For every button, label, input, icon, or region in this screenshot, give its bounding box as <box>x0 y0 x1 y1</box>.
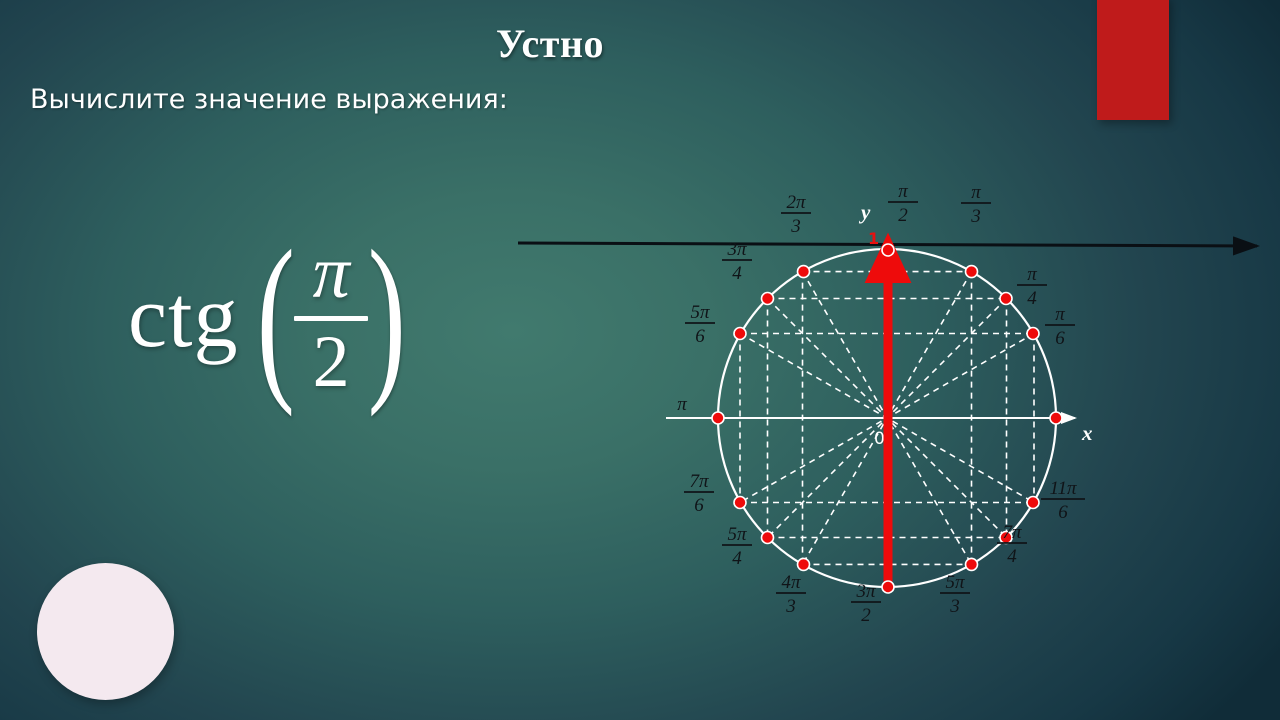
angle-label-numerator: 11π <box>1049 478 1077 499</box>
angle-label-numerator: 3π <box>726 239 747 260</box>
angle-label-denominator: 6 <box>1055 328 1065 349</box>
angle-label-numerator: π <box>1055 304 1065 325</box>
angle-label-numerator: 7π <box>689 471 709 492</box>
angle-label-five-pi-over-6: 5π6 <box>685 302 715 347</box>
angle-label-denominator: 4 <box>732 548 742 569</box>
angle-label-denominator: 4 <box>1007 546 1017 567</box>
angle-label-denominator: 2 <box>861 605 871 626</box>
point-five-pi-over-4 <box>762 532 774 544</box>
angle-label-denominator: 3 <box>949 596 960 617</box>
angle-label-two-pi-over-3: 2π3 <box>781 192 811 237</box>
point-pi-over-3 <box>966 266 978 278</box>
angle-label-pi-over-3: π3 <box>961 182 991 227</box>
point-three-pi-over-2 <box>882 581 894 593</box>
angle-label-four-pi-over-3: 4π3 <box>776 572 806 617</box>
angle-label-numerator: 2π <box>786 192 806 213</box>
point-three-pi-over-4 <box>762 293 774 305</box>
angle-label-seven-pi-over-4: 7π4 <box>997 522 1027 567</box>
point-pi <box>712 412 724 424</box>
angle-label-denominator: 6 <box>1058 502 1068 523</box>
angle-label-denominator: 2 <box>898 205 908 226</box>
angle-label-denominator: 4 <box>1027 288 1037 309</box>
unit-value-label: 1 <box>868 229 879 248</box>
angle-label-numerator: 5π <box>945 572 965 593</box>
angle-label-numerator: 7π <box>1002 522 1022 543</box>
point-seven-pi-over-6 <box>734 497 746 509</box>
angle-label-seven-pi-over-6: 7π6 <box>684 471 714 516</box>
point-four-pi-over-3 <box>798 558 810 570</box>
slide-canvas: Устно Вычислите значение выражения: ctg … <box>0 0 1280 720</box>
point-pi-over-6 <box>1027 328 1039 340</box>
angle-label-numerator: π <box>971 182 981 203</box>
point-five-pi-over-3 <box>966 558 978 570</box>
point-0 <box>1050 412 1062 424</box>
x-axis-label: x <box>1081 421 1093 445</box>
angle-label-numerator: π <box>1027 264 1037 285</box>
angle-label-pi-over-6: π6 <box>1045 304 1075 349</box>
angle-label-denominator: 3 <box>790 216 801 237</box>
y-axis-label: y <box>858 200 871 224</box>
angle-label-numerator: 5π <box>727 524 747 545</box>
angle-label-denominator: 3 <box>785 596 796 617</box>
point-pi-over-4 <box>1000 293 1012 305</box>
angle-label-pi: π <box>677 394 687 415</box>
angle-label-group: π6π4π3π22π33π45π6π7π65π44π33π25π37π411π6 <box>677 181 1085 626</box>
angle-label-pi-over-4: π4 <box>1017 264 1047 309</box>
angle-label-text: π <box>677 394 687 415</box>
angle-label-denominator: 6 <box>695 326 705 347</box>
angle-label-numerator: π <box>898 181 908 202</box>
angle-label-five-pi-over-3: 5π3 <box>940 572 970 617</box>
angle-label-three-pi-over-4: 3π4 <box>722 239 752 284</box>
point-eleven-pi-over-6 <box>1027 497 1039 509</box>
point-five-pi-over-6 <box>734 328 746 340</box>
unit-circle-diagram: x y 0 <box>0 0 1280 720</box>
angle-label-denominator: 3 <box>970 206 981 227</box>
angle-label-pi-over-2: π2 <box>888 181 918 226</box>
angle-label-numerator: 4π <box>781 572 801 593</box>
angle-label-numerator: 3π <box>855 581 876 602</box>
angle-label-numerator: 5π <box>690 302 710 323</box>
angle-label-eleven-pi-over-6: 11π6 <box>1041 478 1085 523</box>
angle-label-five-pi-over-4: 5π4 <box>722 524 752 569</box>
point-two-pi-over-3 <box>798 266 810 278</box>
angle-label-denominator: 4 <box>732 263 742 284</box>
angle-label-denominator: 6 <box>694 495 704 516</box>
point-pi-over-2 <box>882 244 894 256</box>
